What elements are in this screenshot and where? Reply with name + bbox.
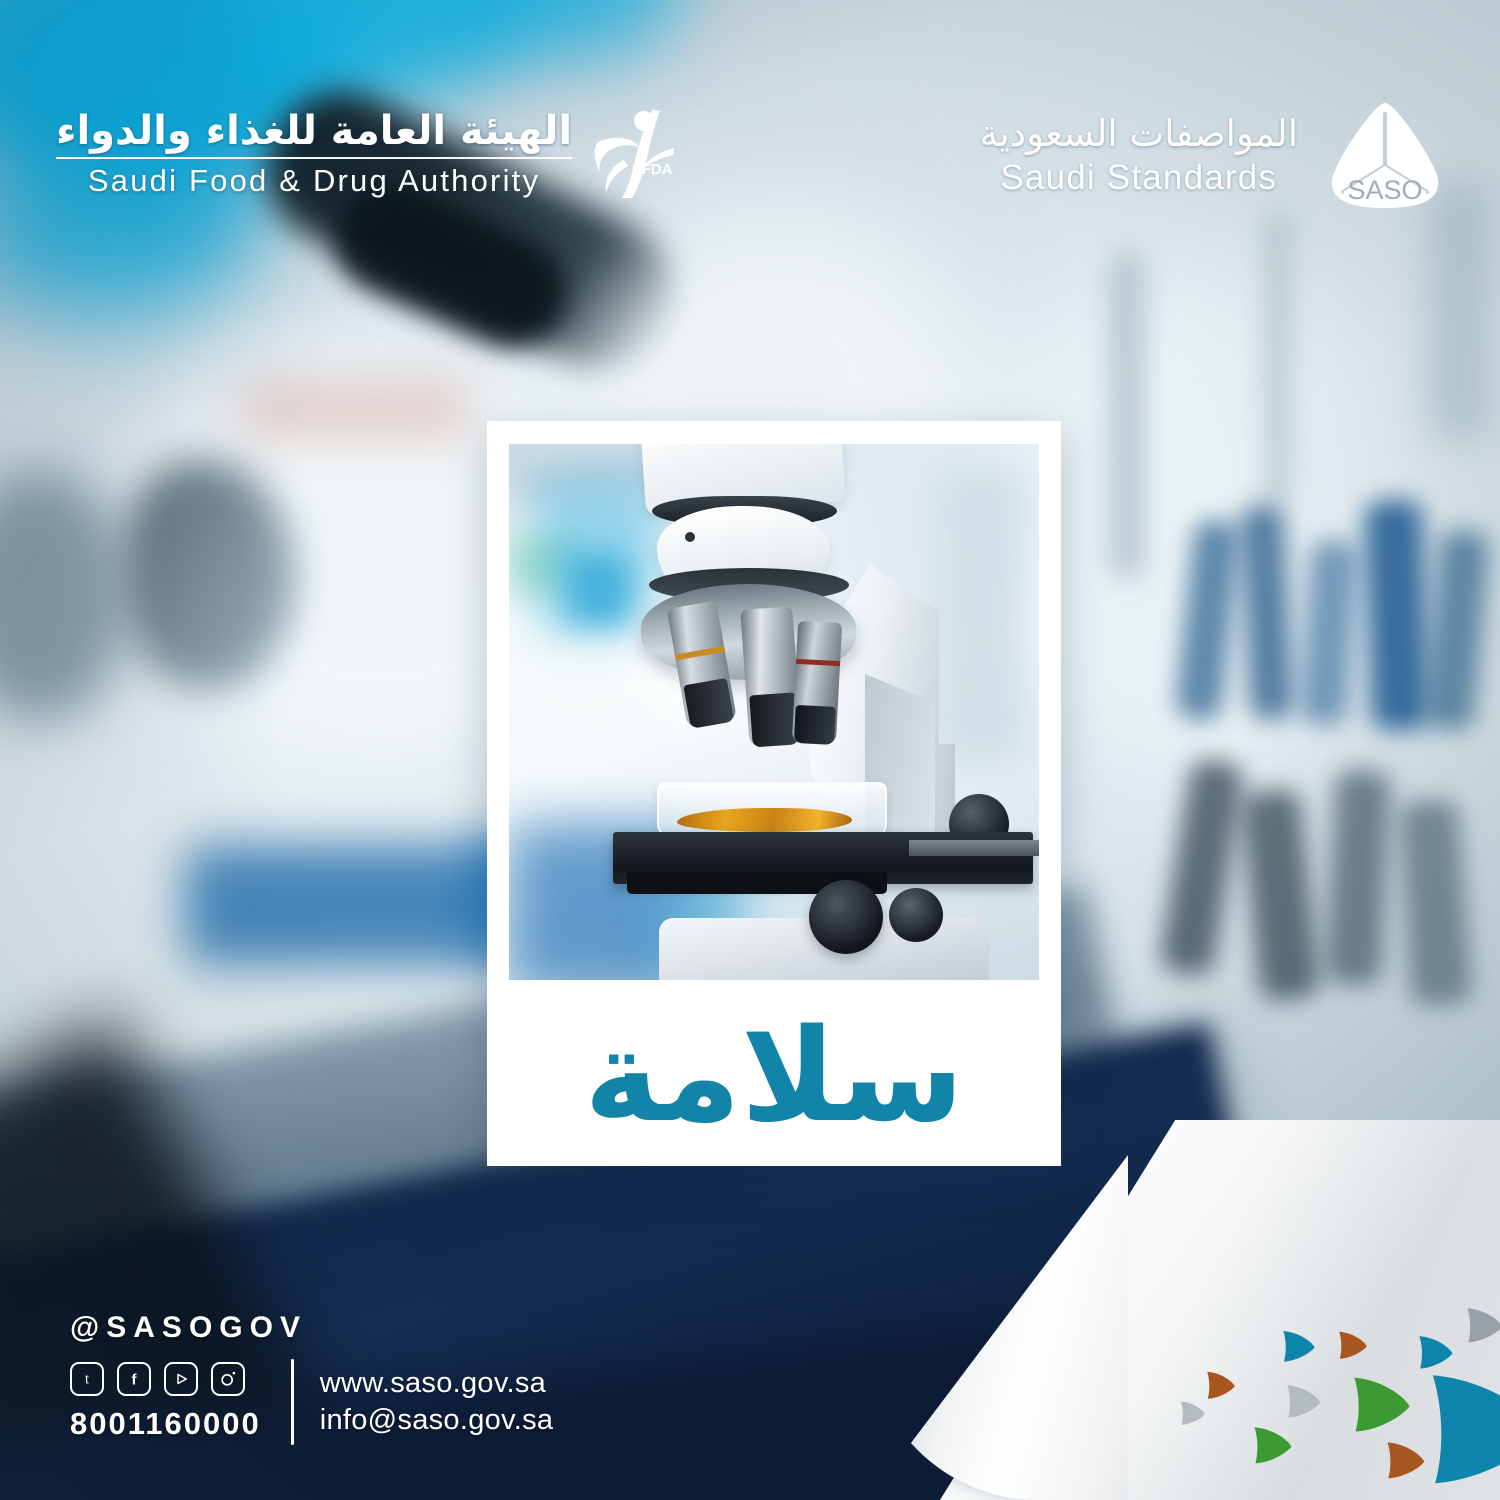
- sfda-wordmark: الهيئة العامة للغذاء والدواء Saudi Food …: [56, 110, 572, 199]
- svg-text:SFDA: SFDA: [632, 161, 673, 178]
- decor-triangle: [1428, 1368, 1500, 1488]
- sfda-english-name: Saudi Food & Drug Authority: [56, 163, 572, 199]
- saso-triangle-icon: SASO: [1326, 100, 1444, 212]
- footer-row: t f: [70, 1359, 553, 1445]
- decor-triangle: [1466, 1306, 1500, 1344]
- microscope-coarse-knob: [809, 880, 883, 954]
- decor-triangle: [1286, 1383, 1322, 1419]
- decor-triangle: [1253, 1425, 1293, 1465]
- decor-triangle: [1180, 1400, 1206, 1426]
- svg-text:f: f: [132, 1371, 138, 1388]
- footer-left-column: t f: [70, 1362, 261, 1442]
- microscope-photo: [509, 444, 1039, 980]
- social-handle: @SASOGOV: [70, 1311, 553, 1345]
- microscope-stage-scale: [909, 840, 1039, 856]
- sfda-logo: الهيئة العامة للغذاء والدواء Saudi Food …: [56, 108, 680, 200]
- footer-divider: [291, 1359, 294, 1445]
- sfda-running-figure-icon: SFDA: [594, 108, 680, 200]
- decor-triangle: [1352, 1374, 1412, 1434]
- svg-text:SASO: SASO: [1347, 175, 1422, 205]
- microscope-screw: [685, 532, 695, 542]
- social-icon-list: t f: [70, 1362, 261, 1396]
- twitter-icon[interactable]: t: [70, 1362, 104, 1396]
- facebook-icon[interactable]: f: [117, 1362, 151, 1396]
- instagram-icon[interactable]: [211, 1362, 245, 1396]
- email-address[interactable]: info@saso.gov.sa: [320, 1404, 554, 1437]
- footer-contact-column: www.saso.gov.sa info@saso.gov.sa: [320, 1367, 554, 1437]
- youtube-icon[interactable]: [164, 1362, 198, 1396]
- decor-triangle: [1418, 1334, 1454, 1370]
- decor-triangle: [1282, 1329, 1316, 1363]
- website-url[interactable]: www.saso.gov.sa: [320, 1367, 554, 1400]
- sfda-arabic-name: الهيئة العامة للغذاء والدواء: [56, 110, 572, 152]
- saso-wordmark: المواصفات السعودية Saudi Standards: [980, 114, 1298, 199]
- sfda-rule-divider: [56, 157, 572, 159]
- photo-bokeh: [939, 464, 1029, 764]
- decor-triangle: [1338, 1330, 1368, 1360]
- poster-canvas: الهيئة العامة للغذاء والدواء Saudi Food …: [0, 0, 1500, 1500]
- microscope-objective-lens: [792, 621, 842, 745]
- header-logos: الهيئة العامة للغذاء والدواء Saudi Food …: [0, 0, 1500, 240]
- caption-text: سلامة: [584, 1013, 964, 1141]
- card-caption: سلامة: [487, 987, 1061, 1166]
- saso-arabic-name: المواصفات السعودية: [980, 114, 1298, 155]
- decor-triangle: [1386, 1440, 1426, 1480]
- saso-logo: المواصفات السعودية Saudi Standards SASO: [980, 100, 1444, 212]
- photo-card: سلامة: [487, 421, 1061, 1166]
- saso-english-name: Saudi Standards: [980, 158, 1298, 198]
- microscope-fine-knob: [889, 888, 943, 942]
- phone-number: 8001160000: [70, 1406, 261, 1442]
- svg-text:t: t: [85, 1372, 89, 1388]
- petri-dish-sample: [677, 808, 852, 832]
- photo-blue-flag: [569, 554, 629, 624]
- decor-triangle: [1206, 1370, 1236, 1400]
- footer-contact-block: @SASOGOV t f: [70, 1311, 553, 1445]
